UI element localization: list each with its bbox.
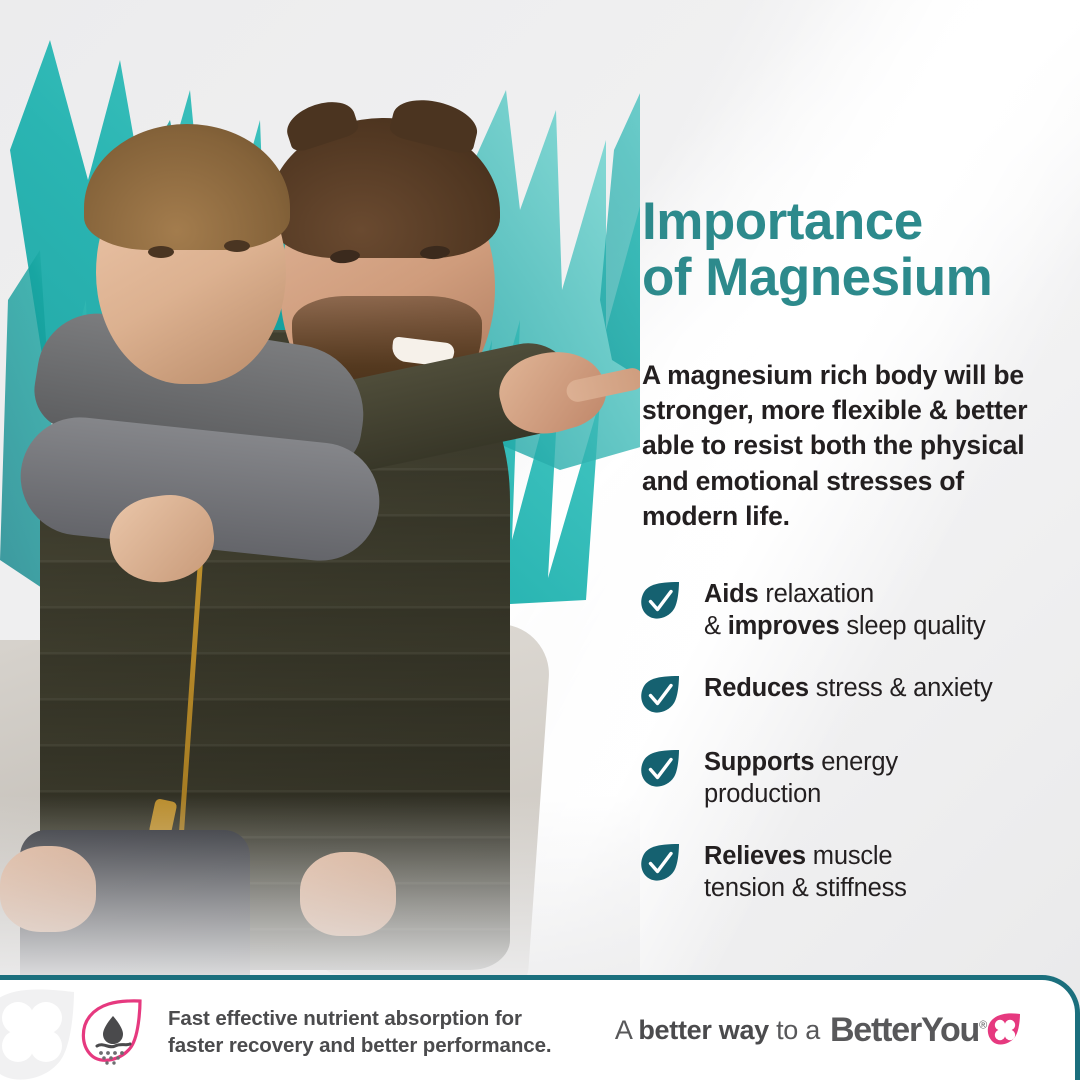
headline-line-2: of Magnesium <box>642 248 992 307</box>
benefit-keyword: Supports <box>704 748 814 776</box>
benefit-keyword: Reduces <box>704 674 809 702</box>
content-column: Importance of Magnesium A magnesium rich… <box>638 0 1080 975</box>
man-hair <box>268 118 500 258</box>
benefit-line2-b: sleep quality <box>839 612 985 640</box>
benefits-list: Aids relaxation & improves sleep quality… <box>638 576 1080 904</box>
registered-mark: ® <box>979 1019 986 1031</box>
list-item: Supports energy production <box>638 744 1080 811</box>
list-item: Aids relaxation & improves sleep quality <box>638 576 1080 643</box>
footer-claim-line-1: Fast effective nutrient absorption for <box>168 1007 522 1030</box>
benefit-text: Aids relaxation & improves sleep quality <box>704 576 986 643</box>
brand-lockup: A better way to a BetterYou® <box>615 980 1023 1080</box>
leaf-check-icon <box>638 841 682 885</box>
list-item: Relieves muscle tension & stiffness <box>638 838 1080 905</box>
benefit-line2-a: production <box>704 780 821 808</box>
footer-bar: Fast effective nutrient absorption for f… <box>0 975 1080 1080</box>
benefit-line2-a: tension & stiffness <box>704 874 907 902</box>
headline-line-1: Importance <box>642 192 923 251</box>
child-hair <box>84 124 290 250</box>
benefit-line2-a: & <box>704 612 728 640</box>
footer-claim-group: Fast effective nutrient absorption for f… <box>80 996 551 1068</box>
child-eye-left <box>148 246 174 258</box>
tagline-part-b: to a <box>769 1015 820 1045</box>
benefit-rest: muscle <box>806 842 892 870</box>
poster-root: Importance of Magnesium A magnesium rich… <box>0 0 1080 1080</box>
logo-wordmark: BetterYou <box>830 1011 979 1049</box>
photo-subjects <box>0 0 640 975</box>
tagline-bold: better way <box>638 1015 769 1045</box>
benefit-rest: energy <box>814 748 898 776</box>
intro-paragraph: A magnesium rich body will be stronger, … <box>642 358 1054 534</box>
benefit-rest: stress & anxiety <box>809 674 993 702</box>
leaf-check-icon <box>638 747 682 791</box>
photo-bottom-fade <box>0 795 640 975</box>
tagline-part-a: A <box>615 1015 638 1045</box>
page-title: Importance of Magnesium <box>642 194 1072 306</box>
benefit-text: Relieves muscle tension & stiffness <box>704 838 907 905</box>
benefit-keyword: Aids <box>704 580 758 608</box>
clover-leaf-icon <box>987 1011 1023 1049</box>
water-droplet-absorption-icon <box>80 996 148 1068</box>
benefit-text: Reduces stress & anxiety <box>704 670 993 704</box>
leaf-check-icon <box>638 579 682 623</box>
benefit-text: Supports energy production <box>704 744 898 811</box>
list-item: Reduces stress & anxiety <box>638 670 1080 717</box>
child-eye-right <box>224 240 250 252</box>
brand-tagline: A better way to a <box>615 1015 820 1046</box>
footer-claim-line-2: faster recovery and better performance. <box>168 1034 551 1057</box>
benefit-keyword-2: improves <box>728 612 840 640</box>
hero-photo <box>0 0 640 975</box>
benefit-rest: relaxation <box>758 580 873 608</box>
leaf-check-icon <box>638 673 682 717</box>
footer-claim: Fast effective nutrient absorption for f… <box>168 1005 551 1059</box>
benefit-keyword: Relieves <box>704 842 806 870</box>
brand-logo-text[interactable]: BetterYou® <box>830 1011 986 1050</box>
